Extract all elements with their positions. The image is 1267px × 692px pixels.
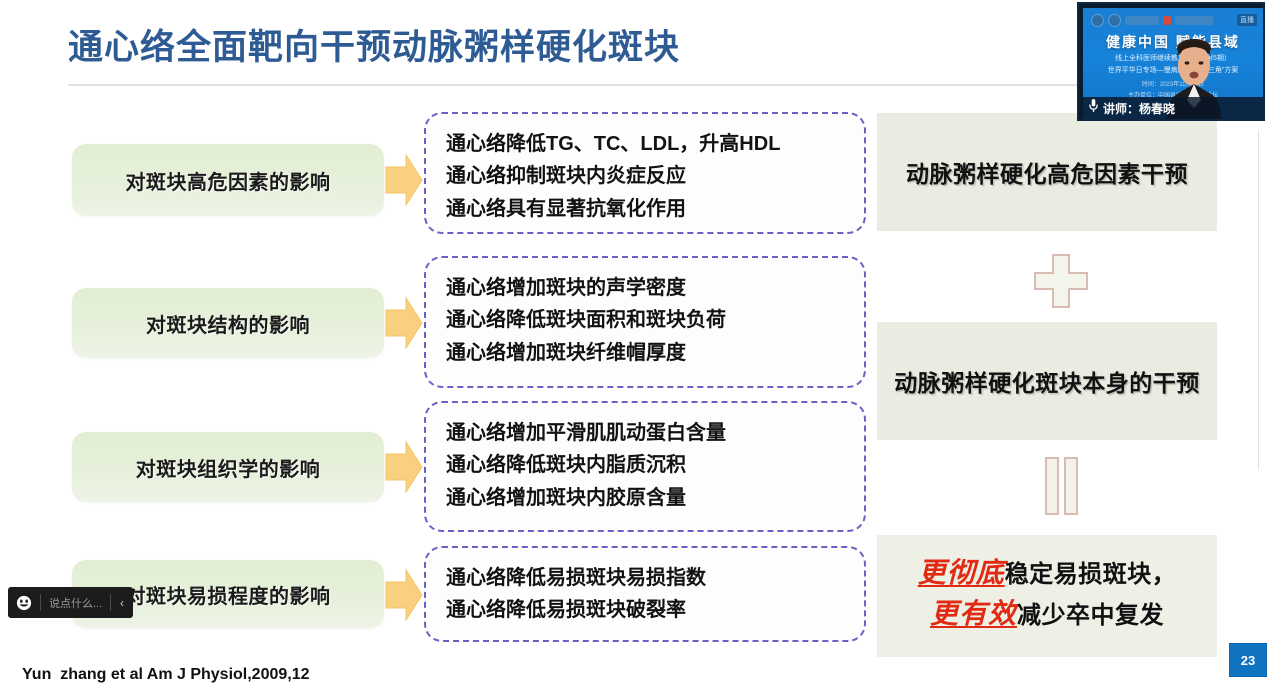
- left-card-label: 对斑块组织学的影响: [136, 453, 321, 482]
- presenter-name: 讲师：杨春晓: [1103, 100, 1175, 117]
- equals-symbol-icon: [1037, 455, 1085, 517]
- detail-box-risk-factors: 通心络降低TG、TC、LDL，升高HDL 通心络抑制斑块内炎症反应 通心络具有显…: [424, 112, 866, 234]
- video-live-badge: 直播: [1237, 14, 1257, 26]
- plus-symbol-icon: [1032, 252, 1090, 310]
- title-divider: [68, 84, 1208, 86]
- detail-line: 通心络增加斑块内胶原含量: [446, 482, 844, 514]
- page-edge-divider: [1258, 130, 1259, 470]
- conclusion-emphasis-2: 更有效: [930, 598, 1017, 629]
- conclusion-line-2: 更有效减少卒中复发: [877, 594, 1217, 635]
- right-panel-label: 动脉粥样硬化高危因素干预: [906, 155, 1188, 189]
- detail-box-structure: 通心络增加斑块的声学密度 通心络降低斑块面积和斑块负荷 通心络增加斑块纤维帽厚度: [424, 256, 866, 388]
- chat-input-bar[interactable]: 说点什么... ‹: [8, 587, 133, 618]
- detail-line: 通心络降低斑块面积和斑块负荷: [446, 304, 844, 336]
- presenter-name-bar: 讲师：杨春晓: [1083, 97, 1263, 119]
- detail-line: 通心络增加平滑肌肌动蛋白含量: [446, 417, 844, 449]
- detail-line: 通心络降低易损斑块易损指数: [446, 562, 844, 594]
- detail-line: 通心络抑制斑块内炎症反应: [446, 160, 844, 192]
- conclusion-line-1: 更彻底稳定易损斑块，: [877, 553, 1217, 594]
- microphone-icon: [1088, 98, 1099, 118]
- arrow-right-icon-4: [384, 566, 424, 624]
- org-wordmark-1: [1125, 16, 1159, 25]
- detail-line: 通心络降低TG、TC、LDL，升高HDL: [446, 128, 844, 160]
- detail-line: 通心络降低易损斑块破裂率: [446, 594, 844, 626]
- presenter-video-overlay[interactable]: 直播 健康中国 赋能县域 线上全科医师继续教育课程（第5期） 世界平华日专场—慢…: [1077, 2, 1265, 121]
- left-card-histology[interactable]: 对斑块组织学的影响: [72, 432, 384, 502]
- left-card-label: 对斑块结构的影响: [146, 309, 310, 338]
- arrow-right-icon-2: [384, 294, 424, 352]
- conclusion-emphasis-1: 更彻底: [918, 557, 1005, 588]
- left-card-structure[interactable]: 对斑块结构的影响: [72, 288, 384, 358]
- detail-box-vulnerability: 通心络降低易损斑块易损指数 通心络降低易损斑块破裂率: [424, 546, 866, 642]
- video-logo-row: [1091, 14, 1213, 27]
- right-panel-plaque-intervention: 动脉粥样硬化斑块本身的干预: [877, 322, 1217, 440]
- chat-message-input[interactable]: 说点什么...: [41, 595, 110, 611]
- emoji-smiley-icon[interactable]: [8, 595, 40, 611]
- citation-text: Yun zhang et al Am J Physiol,2009,12: [22, 666, 310, 684]
- arrow-right-icon-1: [384, 151, 424, 209]
- org-logo-icon-2: [1108, 14, 1121, 27]
- conclusion-rest-1: 稳定易损斑块，: [1005, 561, 1177, 588]
- slide-number-badge: 23: [1229, 643, 1267, 677]
- slide-title-text: 通心络全面靶向干预动脉粥样硬化斑块: [68, 28, 1208, 67]
- page-title: 通心络全面靶向干预动脉粥样硬化斑块: [68, 28, 1208, 67]
- chevron-left-icon[interactable]: ‹: [111, 596, 133, 610]
- conclusion-rest-2: 减少卒中复发: [1017, 602, 1164, 629]
- right-panel-risk-intervention: 动脉粥样硬化高危因素干预: [877, 113, 1217, 231]
- detail-line: 通心络增加斑块纤维帽厚度: [446, 337, 844, 369]
- detail-line: 通心络增加斑块的声学密度: [446, 272, 844, 304]
- org-wordmark-2: [1175, 16, 1213, 25]
- detail-line: 通心络具有显著抗氧化作用: [446, 193, 844, 225]
- detail-line: 通心络降低斑块内脂质沉积: [446, 449, 844, 481]
- org-wordmark-dot: [1163, 16, 1171, 25]
- left-card-label: 对斑块高危因素的影响: [126, 166, 331, 195]
- video-frame: 直播 健康中国 赋能县域 线上全科医师继续教育课程（第5期） 世界平华日专场—慢…: [1083, 8, 1263, 119]
- left-card-risk-factors[interactable]: 对斑块高危因素的影响: [72, 144, 384, 216]
- org-logo-icon-1: [1091, 14, 1104, 27]
- conclusion-panel: 更彻底稳定易损斑块， 更有效减少卒中复发: [877, 535, 1217, 657]
- right-panel-label: 动脉粥样硬化斑块本身的干预: [894, 364, 1200, 398]
- arrow-right-icon-3: [384, 438, 424, 496]
- detail-box-histology: 通心络增加平滑肌肌动蛋白含量 通心络降低斑块内脂质沉积 通心络增加斑块内胶原含量: [424, 401, 866, 532]
- left-card-label: 对斑块易损程度的影响: [126, 580, 331, 609]
